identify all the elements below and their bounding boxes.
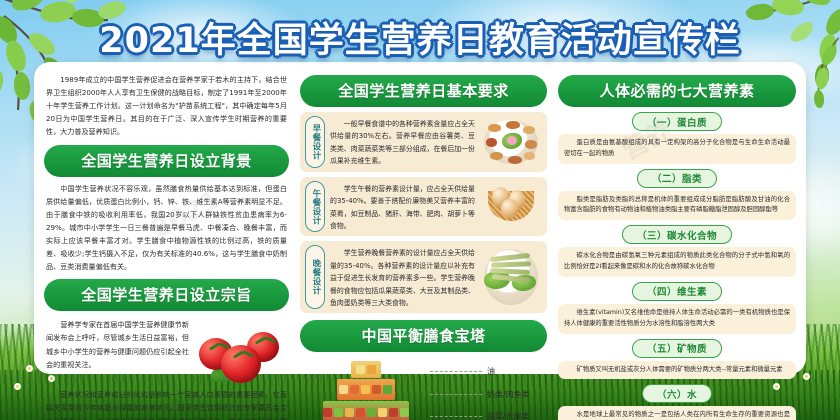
- meal-text-lunch: 学生午餐的营养素设计量，应占全天供给量的35-40%。要善于搭配价廉物美又营养丰…: [330, 181, 475, 233]
- nutrient-body-water: 水是地球上最常见的物质之一是包括人类在内所有生命生存的重要资源也是生物体最重要的…: [558, 406, 796, 420]
- food-pyramid-section: 油 奶类/肉鱼类 蔬菜/水果类 谷薯类: [298, 357, 549, 420]
- meal-card-breakfast: 早餐设计 一般早餐食谱中的各种营养素含量应占全天供给量的30%左右。营养早餐应由…: [300, 112, 547, 172]
- section-header-background: 全国学生营养日设立背景: [44, 145, 289, 177]
- nutrient-body-protein: 蛋白质是由氨基酸组成的具有一定构架的高分子化合物是与生命生命活动最密切在一起的物…: [558, 134, 796, 164]
- pyramid-label-row: 油: [430, 366, 543, 377]
- nutrient-head-minerals: （五）矿物质: [632, 339, 722, 358]
- dash-connector-icon: [430, 394, 482, 395]
- column-nutrients: 人体必需的七大营养素 （一）蛋白质 蛋白质是由氨基酸组成的具有一定构架的高分子化…: [556, 69, 798, 367]
- dash-connector-icon: [430, 371, 482, 372]
- meal-tag-breakfast: 早餐设计: [305, 116, 325, 168]
- dash-connector-icon: [430, 416, 482, 417]
- food-pyramid-illustration: [308, 361, 424, 420]
- nutrient-item: （六）水 水是地球上最常见的物质之一是包括人类在内所有生命生存的重要资源也是生物…: [556, 384, 798, 420]
- nutrient-item: （四）维生素 维生素(vitamin)又名维他命是维持人体生命活动必需的一类有机…: [556, 282, 798, 334]
- purpose-content-row: 营养学专家在首届中国学生营养健康节新闻发布会上呼吁，尽管城乡生活日益富裕，但城乡…: [42, 316, 291, 384]
- nutrient-body-minerals: 矿物质又叫无机盐或灰分人体需要的矿物质分两大类--常量元素和微量元素: [558, 361, 796, 380]
- pyramid-label-list: 油 奶类/肉鱼类 蔬菜/水果类 谷薯类: [430, 361, 543, 420]
- breakfast-plate-image: [480, 116, 542, 168]
- intro-paragraph: 1989年成立的中国学生营养促进会在营养学家于若木的主持下，结合世界卫生组织20…: [42, 69, 291, 139]
- nutrient-body-vitamins: 维生素(vitamin)又名维他命是维持人体生命活动必需的一类有机物质也是保持人…: [558, 304, 796, 334]
- pyramid-label-row: 奶类/肉鱼类: [430, 389, 543, 400]
- column-requirements: 全国学生营养日基本要求 早餐设计 一般早餐食谱中的各种营养素含量应占全天供给量的…: [298, 69, 549, 367]
- page-title: 2021年全国学生营养日教育活动宣传栏: [99, 12, 740, 63]
- section-purpose-body-2: 营养状况和营养成分的优劣是影响一个民族人口素质的重要因素，它直接关系到青少年体能…: [42, 384, 291, 420]
- nutrient-head-carbohydrates: （三）碳水化合物: [622, 225, 732, 244]
- section-header-nutrients: 人体必需的七大营养素: [558, 75, 796, 107]
- meal-tag-lunch: 午餐设计: [305, 181, 325, 233]
- meal-tag-dinner: 晚餐设计: [305, 245, 325, 309]
- pyramid-label-oil: 油: [487, 366, 543, 377]
- daisy-icon: [803, 373, 810, 380]
- meal-card-dinner: 晚餐设计 学生营养晚餐营养素的设计量应占全天供给量的35-40%。各种营养素的设…: [300, 241, 547, 313]
- daisy-icon: [14, 383, 21, 390]
- section-header-requirements: 全国学生营养日基本要求: [300, 75, 547, 107]
- section-background-body: 中国学生营养状况不容乐观，虽然膳食热量供给基本达到标准，但蛋白质供给量偏低，优质…: [42, 182, 291, 274]
- nutrient-item: （二）脂类 脂类是脂肪及类脂的总称是机体的重要组成成分脂肪是脂肪酸及甘油的化合物…: [556, 169, 798, 221]
- section-purpose-body: 营养学专家在首届中国学生营养健康节新闻发布会上呼吁，尽管城乡生活日益富裕，但城乡…: [44, 318, 191, 370]
- meal-card-lunch: 午餐设计 学生午餐的营养素设计量，应占全天供给量的35-40%。要善于搭配价廉物…: [300, 177, 547, 237]
- shrimp-plate-image: [480, 245, 542, 309]
- daisy-icon: [26, 365, 33, 372]
- meal-text-dinner: 学生营养晚餐营养素的设计量应占全天供给量的35-40%。各种营养素的设计量应以补…: [330, 245, 475, 309]
- nutrient-head-water: （六）水: [642, 384, 712, 403]
- section-header-purpose: 全国学生营养日设立宗旨: [44, 279, 289, 311]
- pyramid-label-row: 蔬菜/水果类: [430, 411, 543, 420]
- header-banner: 2021年全国学生营养日教育活动宣传栏: [0, 14, 840, 60]
- nutrient-head-vitamins: （四）维生素: [632, 282, 722, 301]
- nutrient-item: （一）蛋白质 蛋白质是由氨基酸组成的具有一定构架的高分子化合物是与生命生命活动最…: [556, 112, 798, 164]
- nutrient-body-lipids: 脂类是脂肪及类脂的总称是机体的重要组成成分脂肪是脂肪酸及甘油的化合物富含脂肪的食…: [558, 191, 796, 221]
- section-header-pyramid: 中国平衡膳食宝塔: [300, 320, 547, 352]
- content-panel: 1989年成立的中国学生营养促进会在营养学家于若木的主持下，结合世界卫生组织20…: [34, 62, 806, 374]
- pyramid-label-dairy-meat: 奶类/肉鱼类: [487, 389, 543, 400]
- nutrient-item: （五）矿物质 矿物质又叫无机盐或灰分人体需要的矿物质分两大类--常量元素和微量元…: [556, 339, 798, 380]
- nutrient-head-protein: （一）蛋白质: [632, 112, 722, 131]
- pyramid-label-vegetables-fruit: 蔬菜/水果类: [487, 411, 543, 420]
- nutrient-head-lipids: （二）脂类: [637, 169, 717, 188]
- tomato-illustration: [193, 318, 289, 384]
- nutrient-body-carbohydrates: 碳水化合物是由碳氢氧三种元素组成的物质此类化合物的分子式中氢和氧的比例恰好是2I…: [558, 247, 796, 277]
- meal-text-breakfast: 一般早餐食谱中的各种营养素含量应占全天供给量的30%左右。营养早餐应由谷薯类、豆…: [330, 116, 475, 168]
- nutrient-item: （三）碳水化合物 碳水化合物是由碳氢氧三种元素组成的物质此类化合物的分子式中氢和…: [556, 225, 798, 277]
- column-background: 1989年成立的中国学生营养促进会在营养学家于若木的主持下，结合世界卫生组织20…: [42, 69, 291, 367]
- eggs-basket-image: [480, 181, 542, 233]
